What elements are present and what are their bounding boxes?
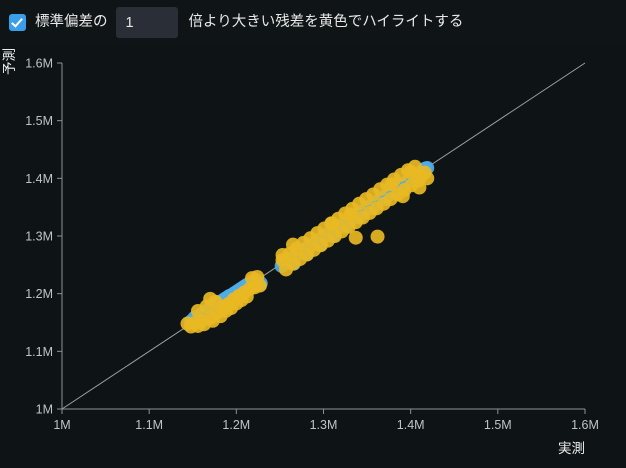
- y-tick-label: 1.4M: [25, 172, 53, 186]
- scatter-point: [325, 216, 339, 230]
- y-tick-label: 1M: [36, 403, 53, 417]
- scatter-point: [384, 177, 398, 191]
- x-tick-label: 1.6M: [571, 418, 599, 432]
- scatter-point: [404, 165, 418, 179]
- scatter-point: [344, 208, 358, 222]
- y-tick-label: 1.3M: [25, 230, 53, 244]
- y-tick-label: 1.1M: [25, 345, 53, 359]
- x-tick-label: 1M: [53, 418, 70, 432]
- scatter-point: [203, 292, 217, 306]
- scatter-point: [412, 181, 426, 195]
- y-axis-title: 予測: [2, 48, 17, 75]
- highlight-residuals-checkbox[interactable]: [9, 14, 26, 31]
- x-tick-label: 1.3M: [310, 418, 338, 432]
- scatter-point: [349, 231, 363, 245]
- scatter-plot-panel: 1M1.1M1.2M1.3M1.4M1.5M1.6M 1M1.1M1.2M1.3…: [0, 45, 626, 468]
- y-tick-label: 1.5M: [25, 114, 53, 128]
- x-tick-label: 1.5M: [484, 418, 512, 432]
- x-tick-label: 1.1M: [135, 418, 163, 432]
- scatter-point: [286, 238, 300, 252]
- scatter-point: [276, 248, 290, 262]
- scatter-point: [191, 304, 205, 318]
- stddev-label-prefix: 標準偏差の: [35, 0, 108, 45]
- y-tick-label: 1.6M: [25, 57, 53, 71]
- x-axis-title: 実測: [558, 441, 585, 456]
- highlight-control-bar: 標準偏差の 倍より大きい残差を黄色でハイライトする: [0, 0, 626, 45]
- scatter-point: [396, 189, 410, 203]
- x-tick-label: 1.2M: [222, 418, 250, 432]
- stddev-label-suffix: 倍より大きい残差を黄色でハイライトする: [189, 0, 464, 45]
- y-tick-label: 1.2M: [25, 287, 53, 301]
- scatter-point: [253, 279, 267, 293]
- x-tick-label: 1.4M: [397, 418, 425, 432]
- scatter-plot-svg[interactable]: 1M1.1M1.2M1.3M1.4M1.5M1.6M 1M1.1M1.2M1.3…: [0, 45, 626, 468]
- stddev-multiplier-input[interactable]: [116, 7, 178, 38]
- scatter-point: [371, 230, 385, 244]
